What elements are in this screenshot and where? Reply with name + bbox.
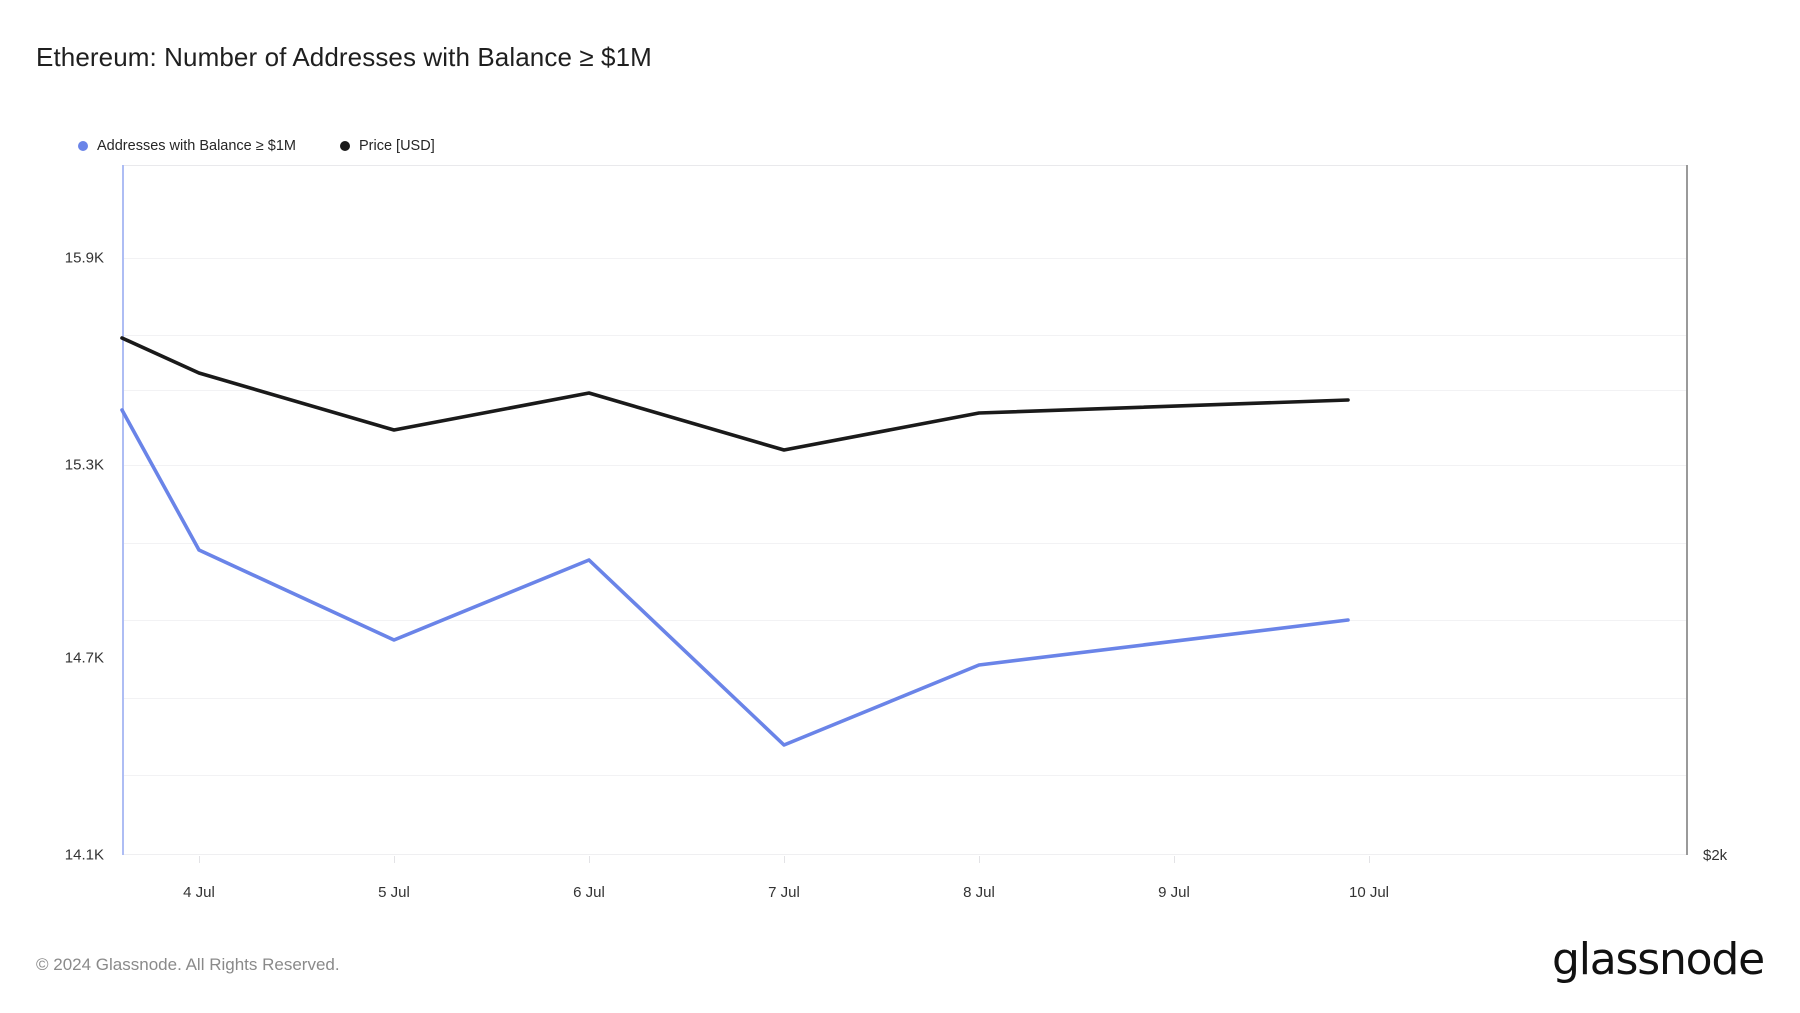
x-tick-mark — [1174, 856, 1175, 863]
x-tick-mark — [784, 856, 785, 863]
x-tick-label: 8 Jul — [963, 884, 995, 901]
x-tick-mark — [1369, 856, 1370, 863]
glassnode-logo: glassnode — [1552, 938, 1764, 982]
footer-copyright: © 2024 Glassnode. All Rights Reserved. — [36, 955, 340, 975]
x-tick-label: 10 Jul — [1349, 884, 1389, 901]
x-tick-label: 6 Jul — [573, 884, 605, 901]
x-tick-mark — [199, 856, 200, 863]
y-axis-right-label: $2k — [1703, 847, 1727, 864]
x-tick-label: 9 Jul — [1158, 884, 1190, 901]
x-tick-mark — [589, 856, 590, 863]
x-tick-label: 4 Jul — [183, 884, 215, 901]
x-tick-mark — [979, 856, 980, 863]
x-axis-labels: 4 Jul 5 Jul 6 Jul 7 Jul 8 Jul 9 Jul 10 J… — [0, 0, 1800, 1013]
x-tick-label: 7 Jul — [768, 884, 800, 901]
chart-page: Ethereum: Number of Addresses with Balan… — [0, 0, 1800, 1013]
x-tick-label: 5 Jul — [378, 884, 410, 901]
x-tick-mark — [394, 856, 395, 863]
